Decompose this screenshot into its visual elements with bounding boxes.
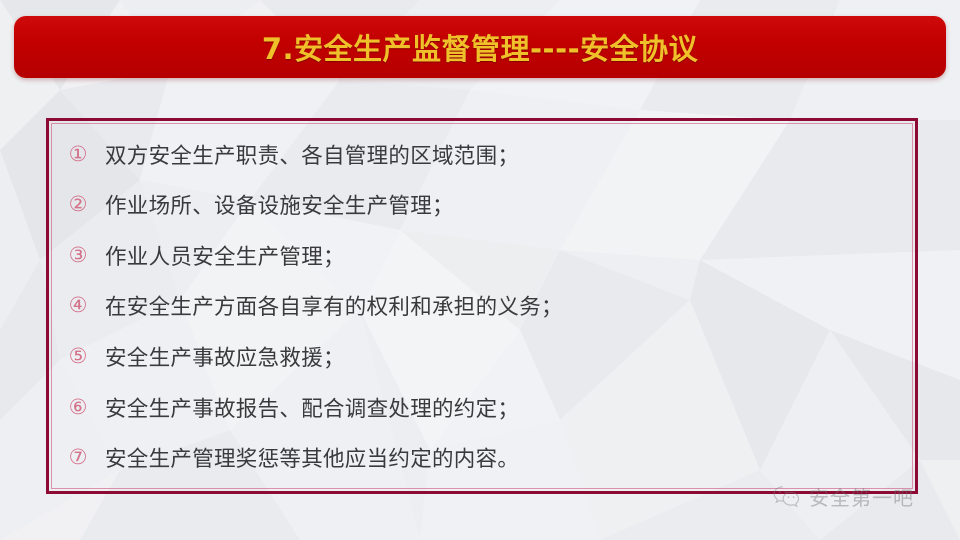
list-item: ⑥ 安全生产事故报告、配合调查处理的约定； [63,385,905,429]
list-item: ④ 在安全生产方面各自享有的权利和承担的义务； [63,284,905,328]
title-banner: 7.安全生产监督管理----安全协议 [14,16,946,78]
list-item: ② 作业场所、设备设施安全生产管理； [63,183,905,227]
list-item: ⑦ 安全生产管理奖惩等其他应当约定的内容。 [63,436,905,480]
watermark-label: 安全第一吧 [809,482,914,511]
list-item-marker: ③ [63,245,93,266]
agreement-item-list: ① 双方安全生产职责、各自管理的区域范围； ② 作业场所、设备设施安全生产管理；… [63,129,905,483]
slide-canvas: 7.安全生产监督管理----安全协议 ① 双方安全生产职责、各自管理的区域范围；… [0,0,960,540]
list-item-label: 作业人员安全生产管理； [105,240,905,271]
watermark: 安全第一吧 [772,482,914,511]
list-item-marker: ⑦ [63,447,93,468]
content-frame: ① 双方安全生产职责、各自管理的区域范围； ② 作业场所、设备设施安全生产管理；… [46,118,918,494]
list-item: ⑤ 安全生产事故应急救援； [63,335,905,379]
list-item-marker: ④ [63,295,93,316]
page-title: 7.安全生产监督管理----安全协议 [262,26,698,68]
list-item-label: 在安全生产方面各自享有的权利和承担的义务； [105,290,905,321]
list-item-label: 安全生产事故报告、配合调查处理的约定； [105,392,905,423]
list-item-label: 作业场所、设备设施安全生产管理； [105,189,905,220]
list-item-marker: ⑥ [63,397,93,418]
list-item-label: 安全生产管理奖惩等其他应当约定的内容。 [105,442,905,473]
wechat-icon [772,484,802,510]
list-item-label: 双方安全生产职责、各自管理的区域范围； [105,139,905,170]
list-item-label: 安全生产事故应急救援； [105,341,905,372]
list-item: ① 双方安全生产职责、各自管理的区域范围； [63,132,905,176]
list-item: ③ 作业人员安全生产管理； [63,233,905,277]
list-item-marker: ⑤ [63,346,93,367]
list-item-marker: ② [63,194,93,215]
list-item-marker: ① [63,144,93,165]
